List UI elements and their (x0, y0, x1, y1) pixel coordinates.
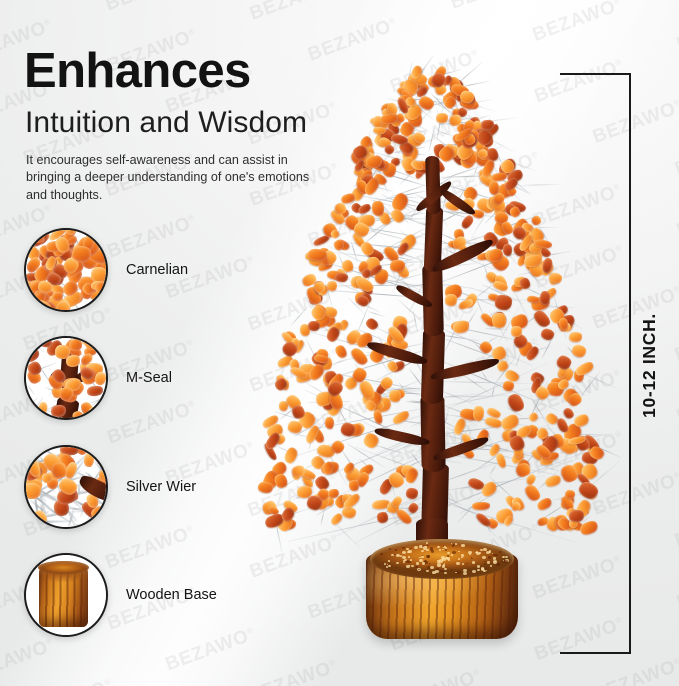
base-texture-fleck (391, 554, 394, 556)
base-texture-fleck (443, 545, 445, 546)
feature-callout-carnelian: Carnelian (24, 228, 188, 312)
wire-strand (26, 447, 32, 452)
base-texture-fleck (486, 570, 488, 571)
wooden-base-closeup-icon (24, 553, 108, 637)
base-texture-fleck (414, 546, 418, 549)
watermark-text: BEZAWO® (674, 562, 679, 615)
base-texture-fleck (437, 546, 440, 549)
base-texture-fleck (457, 571, 461, 574)
wire-strand (26, 384, 35, 395)
base-texture-fleck (505, 556, 508, 558)
stone-cluster-closeup-icon (24, 228, 108, 312)
base-texture-fleck (499, 551, 502, 554)
base-texture-fleck (444, 572, 448, 575)
base-texture-fleck (458, 551, 460, 552)
page-title: Enhances (24, 47, 251, 96)
trunk-segment (421, 328, 445, 405)
base-texture-fleck (466, 563, 468, 564)
base-texture-fleck (451, 569, 453, 570)
base-texture-fleck (407, 551, 409, 553)
watermark-text: BEZAWO® (672, 314, 679, 367)
watermark-text: BEZAWO® (0, 635, 58, 686)
watermark-text: BEZAWO® (389, 665, 484, 686)
base-texture-fleck (384, 563, 386, 565)
base-texture-fleck (380, 553, 382, 555)
base-texture-fleck (388, 565, 391, 567)
watermark-text: BEZAWO® (247, 0, 342, 26)
base-texture-fleck (477, 565, 481, 568)
gemstone-chip (87, 385, 104, 397)
base-texture-fleck (471, 558, 473, 560)
base-texture-fleck (411, 565, 414, 568)
base-texture-fleck (445, 549, 448, 551)
base-texture-fleck (446, 557, 450, 560)
base-texture-fleck (402, 547, 405, 550)
dimension-label: 10-12 INCH. (639, 313, 660, 418)
base-texture-fleck (461, 557, 463, 558)
base-texture-fleck (444, 568, 447, 570)
base-texture-fleck (442, 549, 444, 551)
body-paragraph: It encourages self-awareness and can ass… (26, 152, 326, 204)
page-subtitle: Intuition and Wisdom (25, 108, 307, 138)
base-texture-fleck (437, 560, 440, 562)
base-texture-fleck (432, 571, 436, 574)
watermark-text: BEZAWO® (590, 468, 679, 521)
base-texture-fleck (451, 543, 453, 544)
base-texture-fleck (416, 562, 419, 564)
base-texture-fleck (472, 561, 475, 563)
tree-branch (439, 188, 477, 218)
base-texture-fleck (458, 558, 460, 560)
feature-label: M-Seal (126, 370, 172, 386)
gemstone-chip (480, 119, 494, 130)
gemstone-chip (83, 452, 95, 467)
watermark-text: BEZAWO® (448, 0, 543, 15)
base-texture-fleck (484, 561, 486, 562)
watermark-text: BEZAWO® (674, 376, 679, 429)
base-texture-fleck (488, 556, 491, 559)
base-texture-fleck (461, 554, 464, 557)
base-texture-fleck (436, 568, 438, 570)
wooden-base (366, 539, 518, 651)
base-texture-fleck (463, 569, 467, 572)
base-texture-fleck (430, 566, 434, 569)
base-texture-fleck (476, 551, 478, 553)
base-texture-fleck (426, 570, 428, 572)
base-texture-fleck (421, 556, 423, 558)
trunk-joint-closeup-icon (24, 336, 108, 420)
base-texture-fleck (493, 557, 496, 559)
watermark-text: BEZAWO® (674, 190, 679, 243)
base-texture-fleck (437, 563, 441, 566)
gemstone-chip (436, 113, 448, 123)
base-texture-fleck (447, 555, 449, 557)
base-texture-fleck (388, 563, 390, 564)
base-texture-fleck (451, 554, 453, 555)
base-texture-fleck (386, 566, 388, 568)
feature-label: Silver Wier (126, 479, 196, 495)
base-texture-fleck (429, 563, 431, 564)
watermark-text: BEZAWO® (590, 96, 679, 149)
base-texture-fleck (410, 559, 412, 561)
base-texture-fleck (442, 565, 445, 567)
watermark-text: BEZAWO® (305, 14, 400, 67)
feature-callout-silver-wier: Silver Wier (24, 445, 196, 529)
base-texture-fleck (490, 565, 491, 566)
base-texture-fleck (422, 562, 425, 565)
base-texture-fleck (455, 543, 457, 545)
base-texture-fleck (447, 552, 450, 554)
base-texture-fleck (408, 561, 411, 564)
watermark-text: BEZAWO® (590, 654, 679, 686)
tree-branch (366, 340, 429, 368)
base-texture-fleck (453, 544, 455, 545)
feature-label: Carnelian (126, 262, 188, 278)
base-texture-fleck (462, 563, 464, 565)
watermark-text: BEZAWO® (672, 128, 679, 181)
wire-strand (73, 523, 99, 527)
base-texture-fleck (415, 566, 418, 568)
base-texture-fleck (493, 560, 497, 563)
trunk-segment (420, 394, 445, 472)
base-texture-fleck (388, 560, 389, 561)
base-texture-fleck (472, 570, 476, 573)
base-texture-fleck (504, 560, 508, 563)
base-texture-fleck (484, 563, 487, 565)
feature-callout-mseal: M-Seal (24, 336, 172, 420)
base-texture-fleck (495, 554, 498, 556)
watermark-text: BEZAWO® (590, 282, 679, 335)
base-texture-fleck (477, 569, 479, 571)
base-texture-fleck (426, 549, 428, 551)
gemstone-chip (71, 245, 91, 262)
gemstone-chip (55, 345, 70, 359)
watermark-text: BEZAWO® (103, 0, 198, 16)
base-texture-fleck (430, 547, 434, 550)
base-texture-fleck (487, 561, 490, 563)
base-texture-fleck (400, 555, 402, 557)
base-texture-fleck (423, 546, 427, 549)
base-texture-fleck (426, 555, 430, 558)
watermark-text: BEZAWO® (530, 0, 625, 47)
base-texture-fleck (463, 572, 467, 575)
base-texture-fleck (410, 548, 411, 549)
watermark-text: BEZAWO® (674, 4, 679, 57)
silver-wire-closeup-icon (24, 445, 108, 529)
base-texture-fleck (389, 548, 391, 550)
base-texture-fleck (402, 551, 406, 554)
base-texture-fleck (421, 550, 424, 552)
base-texture-fleck (496, 563, 499, 566)
base-texture-fleck (482, 556, 486, 559)
watermark-text: BEZAWO® (672, 500, 679, 553)
base-texture-fleck (479, 552, 481, 554)
watermark-text: BEZAWO® (20, 675, 115, 686)
base-texture-fleck (456, 562, 460, 565)
base-top (370, 539, 514, 579)
base-texture-fleck (468, 551, 472, 554)
base-texture-fleck (461, 544, 465, 547)
base-texture-fleck (396, 562, 399, 564)
feature-callout-wooden-base: Wooden Base (24, 553, 217, 637)
base-texture-fleck (483, 548, 487, 551)
base-texture-fleck (480, 549, 483, 551)
gemstone-chip (37, 401, 49, 417)
feature-label: Wooden Base (126, 587, 217, 603)
base-texture-fleck (395, 549, 397, 550)
base-texture-fleck (408, 556, 410, 558)
infographic-canvas: BEZAWO®BEZAWO®BEZAWO®BEZAWO®BEZAWO®BEZAW… (0, 0, 679, 686)
base-texture-fleck (502, 556, 505, 558)
